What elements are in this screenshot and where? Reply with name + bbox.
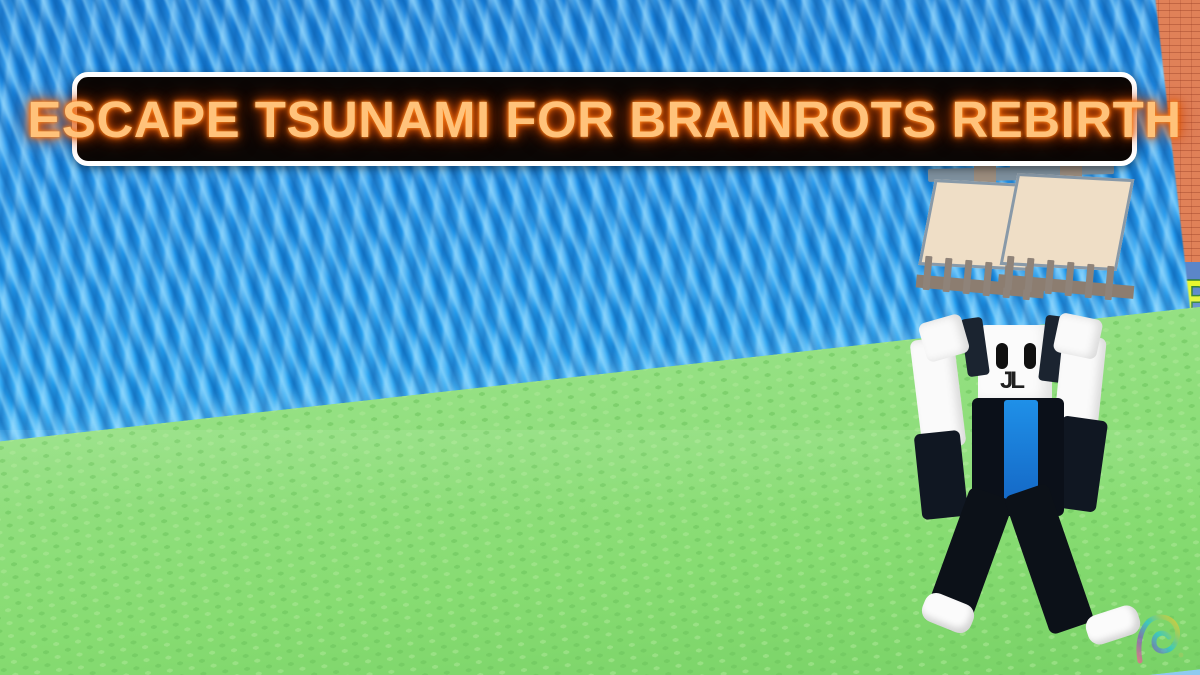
watermark-logo	[1130, 609, 1190, 667]
player-character: JL	[900, 160, 1200, 660]
right-eye	[1024, 343, 1036, 369]
thumbnail-stage: VIP	[0, 0, 1200, 675]
left-eye	[996, 343, 1008, 369]
left-sleeve	[914, 430, 969, 520]
banner-title-text: ESCAPE TSUNAMI FOR BRAINROTS REBIRTH	[27, 90, 1181, 149]
character-mouth: JL	[1000, 370, 1032, 392]
rake-panel	[1000, 173, 1135, 271]
title-banner: ESCAPE TSUNAMI FOR BRAINROTS REBIRTH	[72, 72, 1137, 166]
